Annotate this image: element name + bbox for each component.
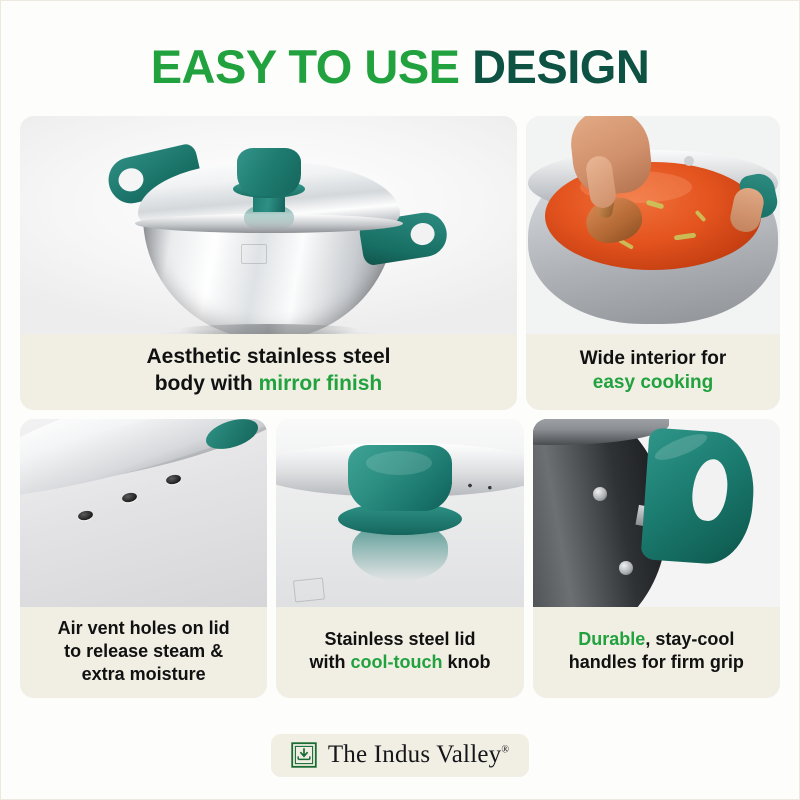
feature-row-bottom: Air vent holes on lid to release steam &… — [20, 419, 780, 698]
caption-line-2: body with mirror finish — [26, 371, 511, 398]
lid-knob-icon — [237, 148, 301, 196]
caption-plain: body with — [155, 372, 259, 395]
product-photo-stirring-curry — [526, 116, 780, 334]
product-photo-vent-holes — [20, 419, 267, 607]
caption-line-3: extra moisture — [26, 663, 261, 686]
caption-line-1: Wide interior for — [532, 347, 774, 371]
caption-plain-post: knob — [442, 652, 490, 672]
brand-etch-mark — [241, 244, 267, 264]
product-photo-kadai-with-lid — [20, 116, 517, 334]
page-title: EASY TO USE DESIGN — [151, 43, 650, 90]
feature-grid: Aesthetic stainless steel body with mirr… — [20, 116, 780, 698]
cool-touch-knob-icon — [348, 445, 452, 511]
trademark-symbol: ® — [501, 745, 509, 756]
feature-caption-cool-touch-knob: Stainless steel lid with cool-touch knob — [276, 607, 523, 698]
product-photo-knob-closeup — [276, 419, 523, 607]
brand-name: The Indus Valley® — [328, 741, 509, 769]
indus-valley-square-mark-icon — [291, 742, 317, 768]
feature-caption-air-vent-holes: Air vent holes on lid to release steam &… — [20, 607, 267, 698]
caption-plain-pre: with — [309, 652, 350, 672]
feature-card-wide-interior: Wide interior for easy cooking — [526, 116, 780, 410]
page-title-part2: DESIGN — [472, 40, 649, 93]
feature-caption-wide-interior: Wide interior for easy cooking — [526, 334, 780, 410]
caption-highlight: cool-touch — [350, 652, 442, 672]
feature-card-aesthetic-body: Aesthetic stainless steel body with mirr… — [20, 116, 517, 410]
caption-line-2: to release steam & — [26, 640, 261, 663]
feature-card-stay-cool-handles: Durable, stay-cool handles for firm grip — [533, 419, 780, 698]
brand-etch-mark — [293, 577, 325, 602]
brand-name-text: The Indus Valley — [328, 741, 502, 768]
caption-line-1: Air vent holes on lid — [26, 617, 261, 640]
caption-highlight: Durable — [578, 629, 645, 649]
caption-plain-post: , stay-cool — [645, 629, 734, 649]
caption-highlight: easy cooking — [532, 371, 774, 395]
brand-logo: The Indus Valley® — [271, 734, 529, 777]
feature-card-air-vent-holes: Air vent holes on lid to release steam &… — [20, 419, 267, 698]
caption-line-2: with cool-touch knob — [282, 651, 517, 674]
infographic-page: EASY TO USE DESIGN — [0, 0, 800, 800]
rivet-icon — [593, 487, 607, 501]
rivet-icon — [619, 561, 633, 575]
caption-line-1: Durable, stay-cool — [539, 628, 774, 651]
page-title-part1: EASY TO USE — [151, 40, 460, 93]
feature-card-cool-touch-knob: Stainless steel lid with cool-touch knob — [276, 419, 523, 698]
feature-row-top: Aesthetic stainless steel body with mirr… — [20, 116, 780, 410]
caption-highlight: mirror finish — [259, 372, 383, 395]
caption-line-1: Aesthetic stainless steel — [26, 344, 511, 371]
feature-caption-aesthetic-body: Aesthetic stainless steel body with mirr… — [20, 334, 517, 410]
caption-line-1: Stainless steel lid — [282, 628, 517, 651]
product-photo-handle-closeup — [533, 419, 780, 607]
feature-caption-stay-cool-handles: Durable, stay-cool handles for firm grip — [533, 607, 780, 698]
footer: The Indus Valley® — [1, 734, 799, 777]
caption-line-2: handles for firm grip — [539, 651, 774, 674]
